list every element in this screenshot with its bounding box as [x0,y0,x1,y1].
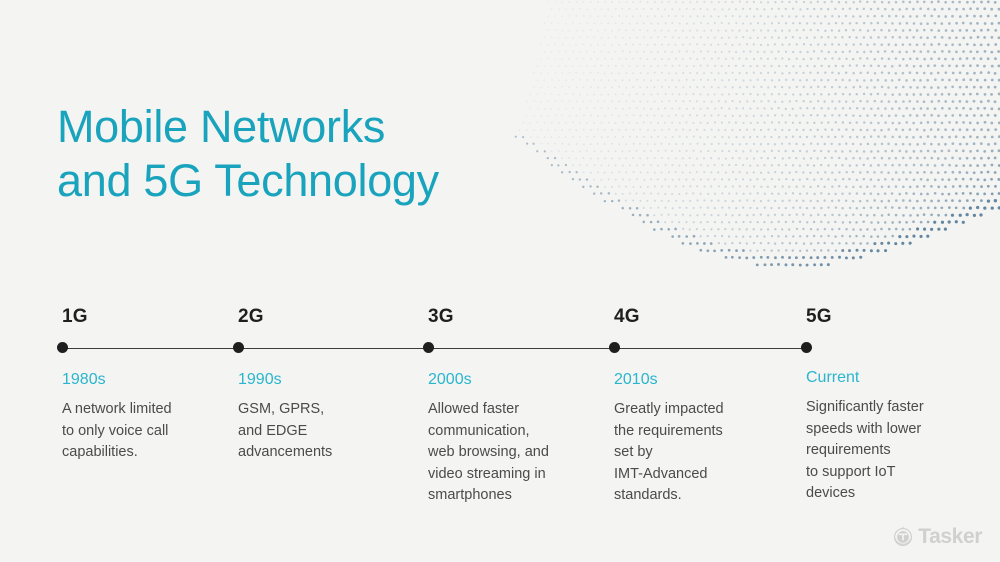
generation-label: 4G [614,306,794,328]
timeline-node-dot [423,342,434,353]
timeline-column-1g: 1G 1980s A network limited to only voice… [62,306,242,328]
generation-label: 2G [238,306,418,328]
era-label: Current [806,368,859,388]
timeline-node-dot [233,342,244,353]
era-label: 1990s [238,370,282,390]
timeline-column-5g: 5G Current Significantly faster speeds w… [806,306,986,328]
timeline: 1G 1980s A network limited to only voice… [0,0,1000,562]
description-text: Greatly impacted the requirements set by… [614,399,724,507]
timeline-column-3g: 3G 2000s Allowed faster communication, w… [428,306,608,328]
description-text: Allowed faster communication, web browsi… [428,399,549,507]
timeline-node-dot [801,342,812,353]
era-label: 2000s [428,370,472,390]
generation-label: 3G [428,306,608,328]
logo-wordmark: Tasker [918,526,982,548]
description-text: Significantly faster speeds with lower r… [806,397,924,505]
timeline-node-dot [57,342,68,353]
era-label: 1980s [62,370,106,390]
timeline-column-4g: 4G 2010s Greatly impacted the requiremen… [614,306,794,328]
tasker-emblem-icon [892,526,914,548]
timeline-node-dot [609,342,620,353]
generation-label: 5G [806,306,986,328]
timeline-axis [64,348,808,350]
brand-logo: Tasker [892,526,982,548]
description-text: GSM, GPRS, and EDGE advancements [238,399,332,464]
era-label: 2010s [614,370,658,390]
description-text: A network limited to only voice call cap… [62,399,172,464]
generation-label: 1G [62,306,242,328]
timeline-column-2g: 2G 1990s GSM, GPRS, and EDGE advancement… [238,306,418,328]
